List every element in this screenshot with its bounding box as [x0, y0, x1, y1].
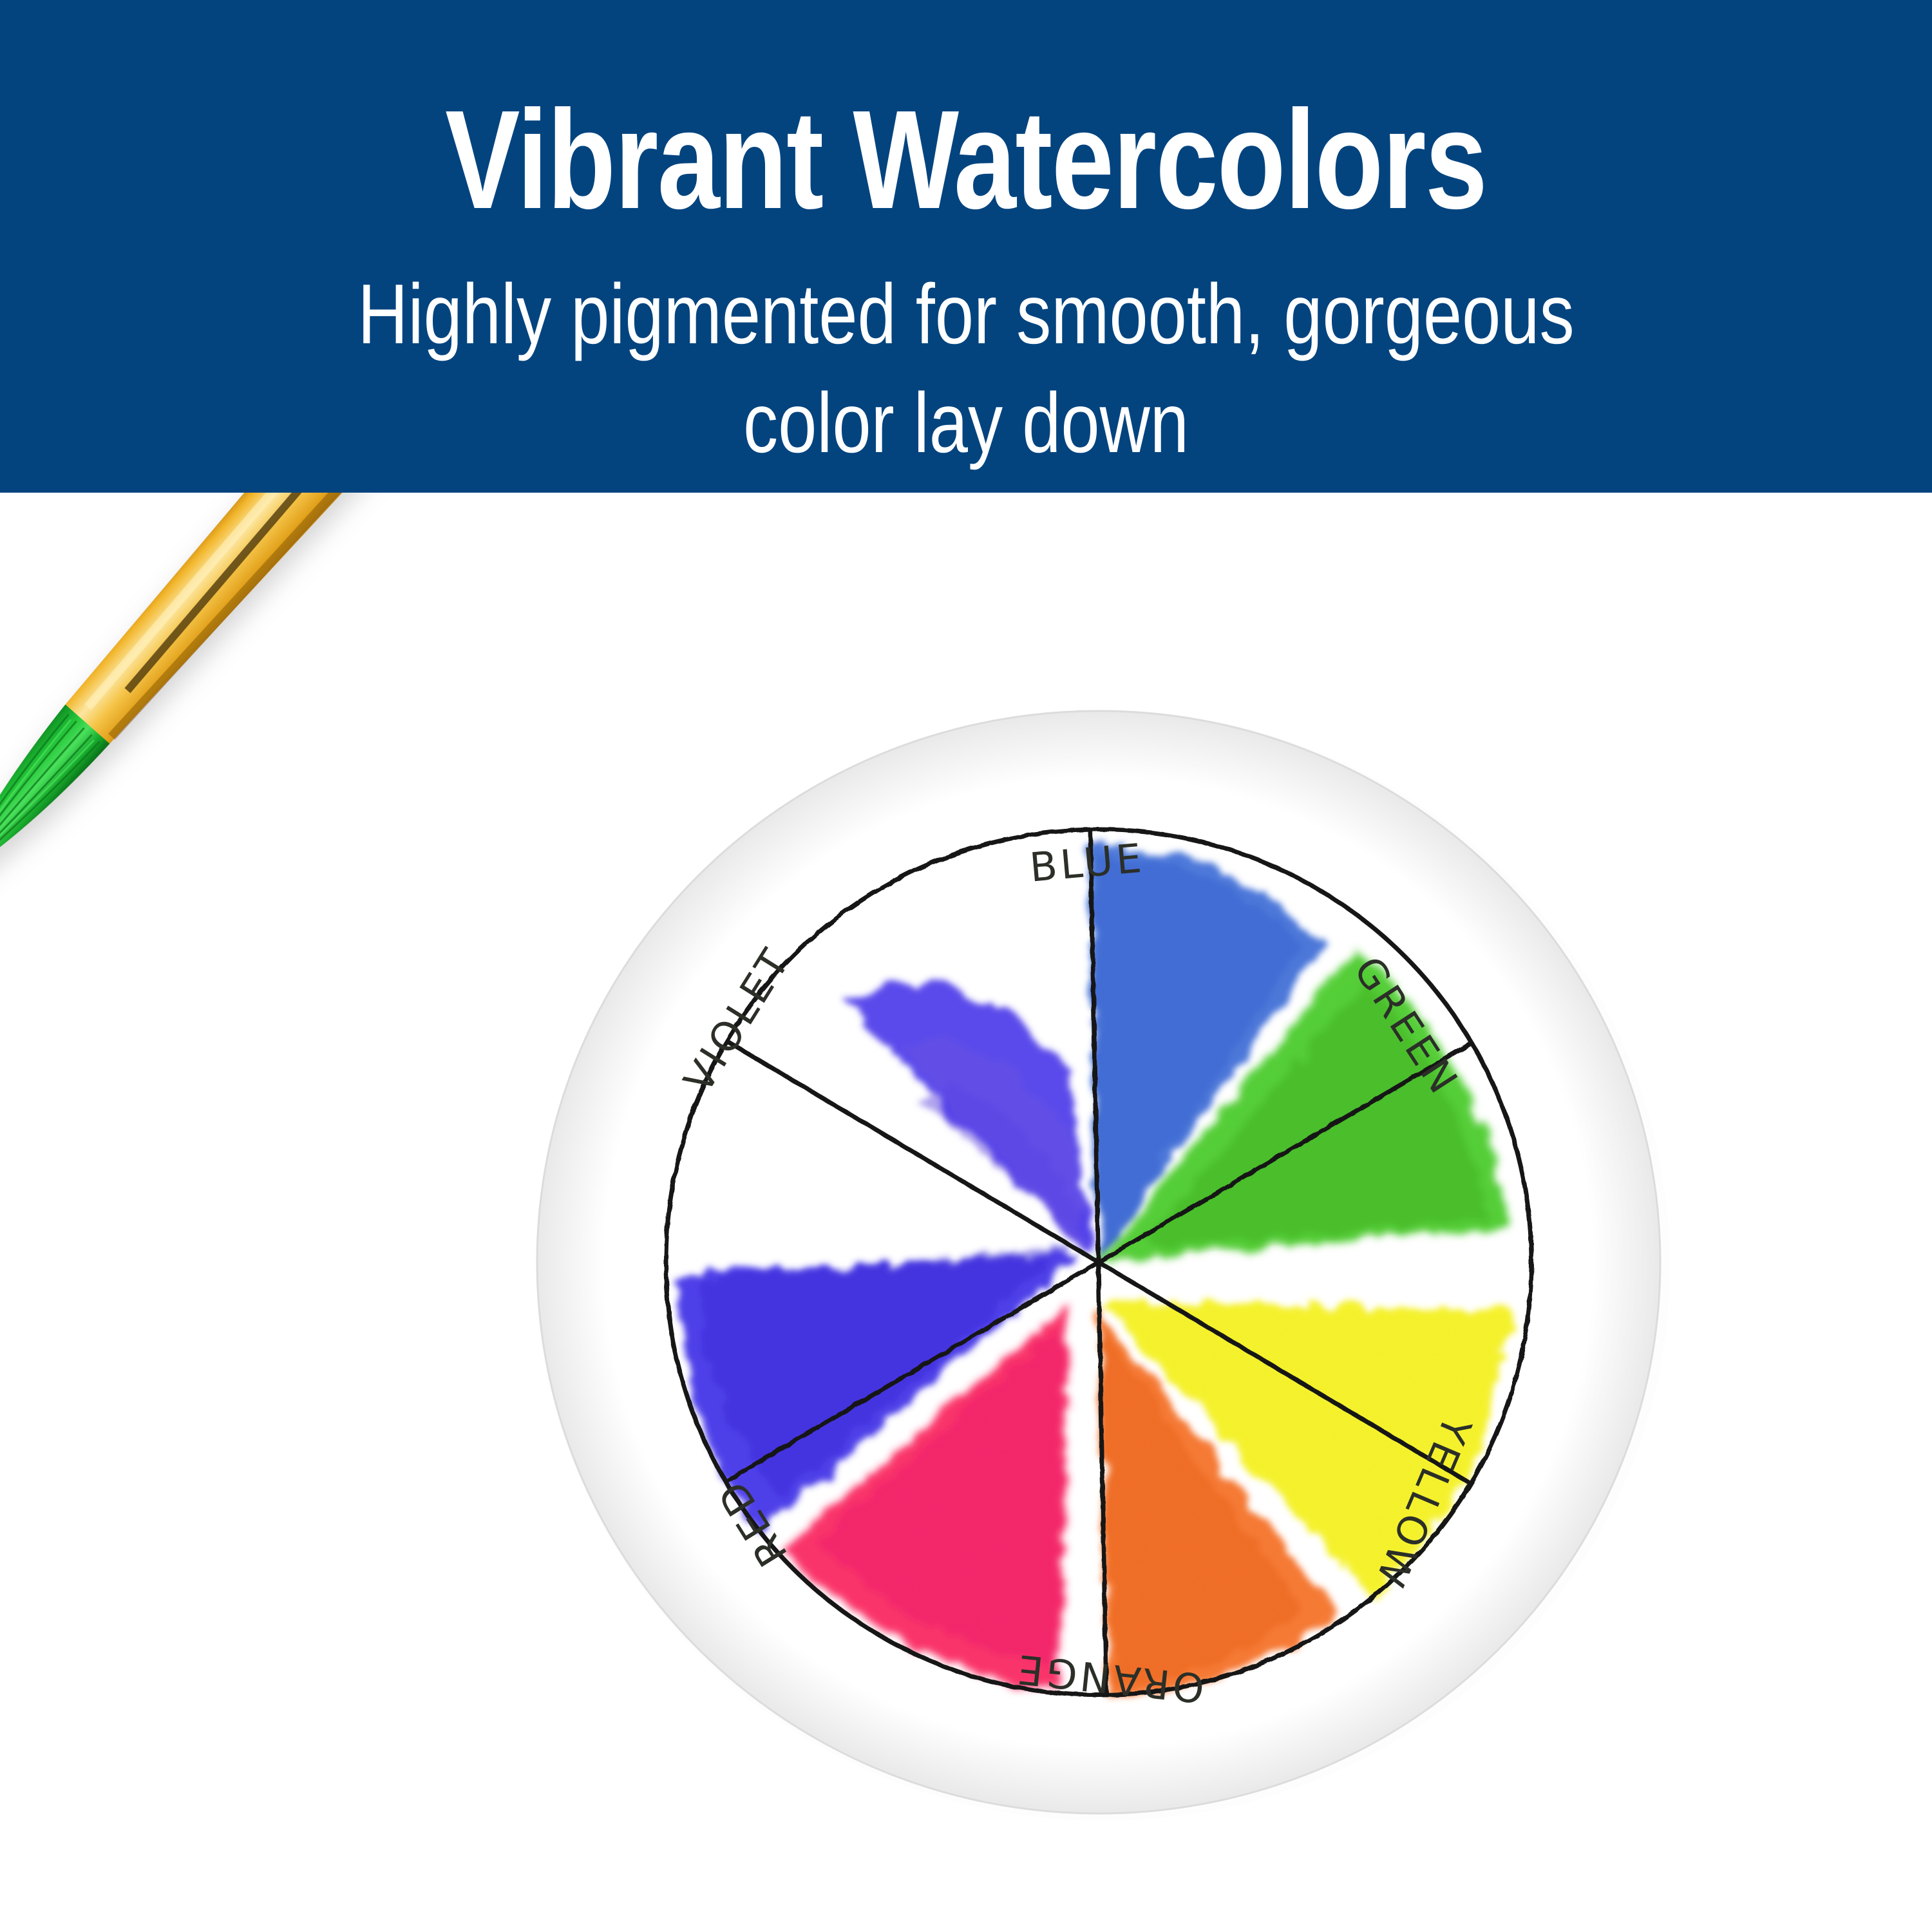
product-photo: BLUE GREEN YELLOW ORANGE RED VIOLET	[0, 493, 1932, 1932]
page-title: Vibrant Watercolors	[445, 90, 1486, 231]
wheel-label-blue: BLUE	[1028, 834, 1146, 891]
color-wheel-illustration: BLUE GREEN YELLOW ORANGE RED VIOLET	[0, 493, 1932, 1932]
page-subtitle: Highly pigmented for smooth, gorgeous co…	[68, 260, 1864, 478]
header-banner: Vibrant Watercolors Highly pigmented for…	[0, 0, 1932, 493]
